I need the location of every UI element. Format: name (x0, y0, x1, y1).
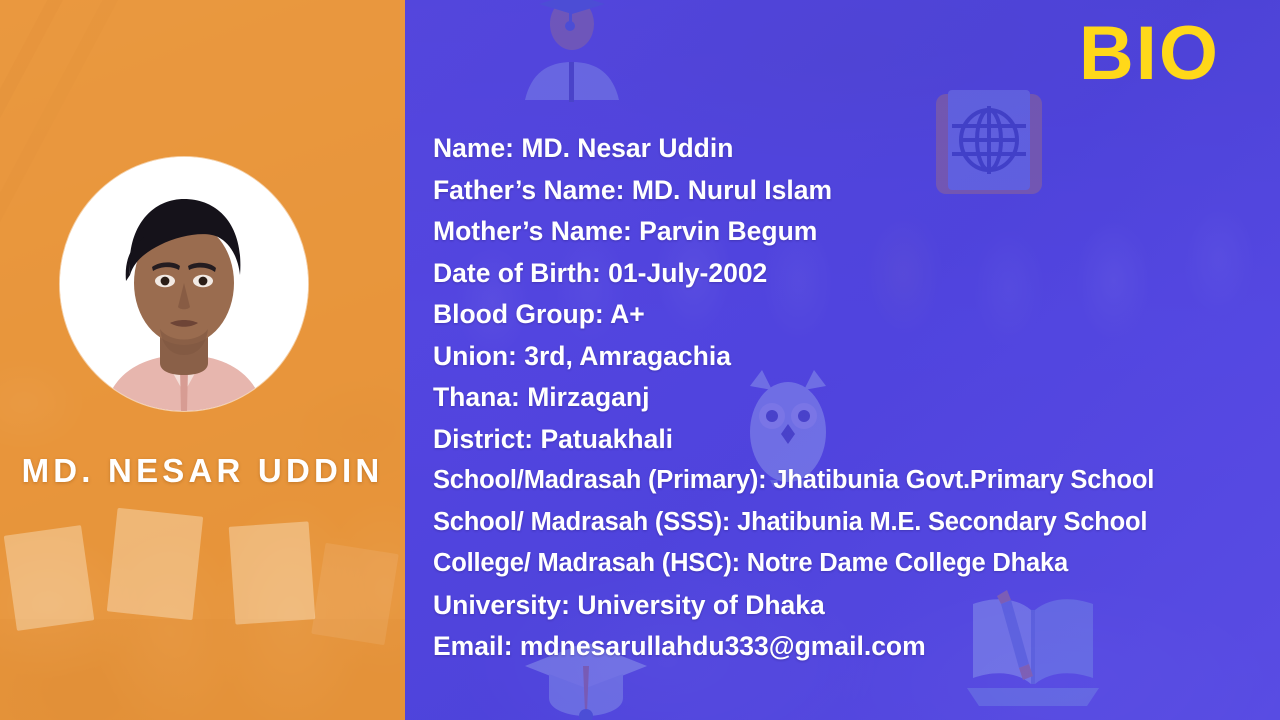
certificate-decor-2 (107, 508, 203, 620)
certificate-decor-1 (4, 525, 95, 631)
profile-name-caption: MD. NESAR UDDIN (0, 452, 405, 490)
bio-field-date-of-birth: Date of Birth: 01-July-2002 (433, 253, 1272, 295)
bio-slide: MD. NESAR UDDIN (0, 0, 1280, 720)
bio-field-secondary-school: School/ Madrasah (SSS): Jhatibunia M.E. … (433, 502, 1272, 544)
bio-field-name: Name: MD. Nesar Uddin (433, 128, 1272, 170)
left-profile-panel: MD. NESAR UDDIN (0, 0, 405, 720)
page-title: BIO (1079, 16, 1220, 92)
bio-field-union: Union: 3rd, Amragachia (433, 336, 1272, 378)
portrait-photo (60, 157, 308, 411)
bio-field-district: District: Patuakhali (433, 419, 1272, 461)
bio-field-thana: Thana: Mirzaganj (433, 377, 1272, 419)
bio-field-fathers-name: Father’s Name: MD. Nurul Islam (433, 170, 1272, 212)
avatar (60, 157, 308, 411)
bio-field-primary-school: School/Madrasah (Primary): Jhatibunia Go… (433, 460, 1272, 502)
bio-field-blood-group: Blood Group: A+ (433, 294, 1272, 336)
bio-field-email: Email: mdnesarullahdu333@gmail.com (433, 626, 1272, 668)
bio-panel: BIO Name: MD. Nesar Uddin Father’s Name:… (405, 0, 1280, 720)
certificate-decor-3 (229, 521, 316, 624)
bio-field-list: Name: MD. Nesar Uddin Father’s Name: MD.… (433, 128, 1272, 668)
bio-field-college: College/ Madrasah (HSC): Notre Dame Coll… (433, 543, 1272, 585)
certificate-decor-4 (311, 543, 398, 645)
bio-field-university: University: University of Dhaka (433, 585, 1272, 627)
bio-field-mothers-name: Mother’s Name: Parvin Begum (433, 211, 1272, 253)
